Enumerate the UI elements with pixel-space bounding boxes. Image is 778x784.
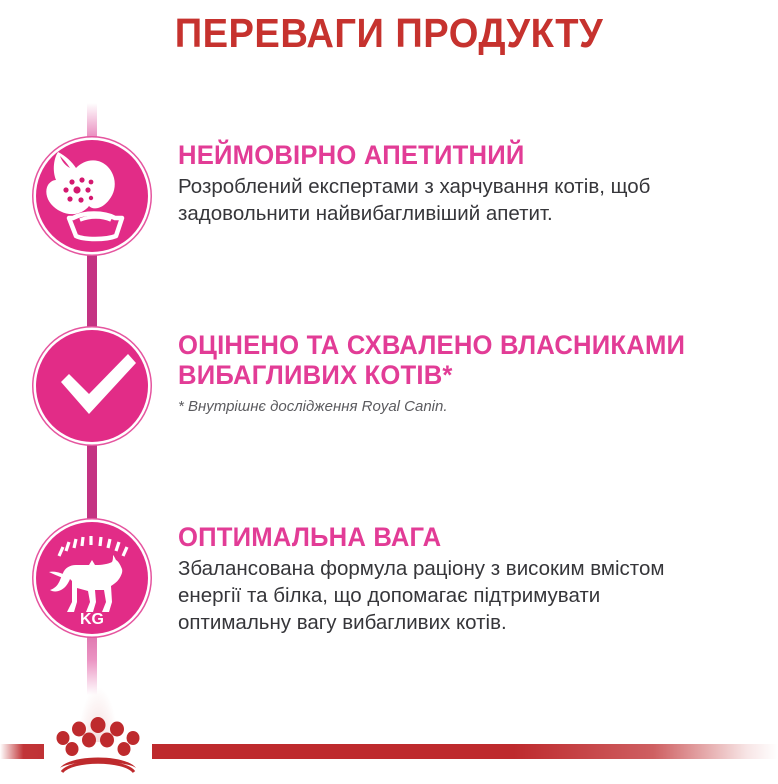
cat-head-with-food-bowl-icon — [36, 140, 148, 252]
feature-heading: ОЦІНЕНО ТА СХВАЛЕНО ВЛАСНИКАМИ ВИБАГЛИВИ… — [178, 330, 739, 390]
checkmark-icon — [36, 330, 148, 442]
feature-body: Розроблений експертами з харчування коті… — [178, 173, 768, 227]
checkmark-glyph — [36, 330, 148, 442]
feature-body: Збалансована формула раціону з високим в… — [178, 555, 768, 636]
feature-text-block: НЕЙМОВІРНО АПЕТИТНИЙ Розроблений експерт… — [178, 140, 768, 227]
cat-on-scale-kg-glyph: KG — [36, 522, 148, 634]
feature-heading: ОПТИМАЛЬНА ВАГА — [178, 522, 739, 552]
feature-text-block: ОЦІНЕНО ТА СХВАЛЕНО ВЛАСНИКАМИ ВИБАГЛИВИ… — [178, 330, 768, 417]
royal-canin-crown-logo — [48, 716, 148, 774]
feature-footnote: * Внутрішнє дослідження Royal Canin. — [178, 397, 768, 417]
cat-on-scale-kg-icon: KG — [36, 522, 148, 634]
page-title: ПЕРЕВАГИ ПРОДУКТУ — [27, 12, 751, 55]
feature-text-block: ОПТИМАЛЬНА ВАГА Збалансована формула рац… — [178, 522, 768, 636]
cat-head-with-food-bowl-glyph — [36, 140, 148, 252]
feature-heading: НЕЙМОВІРНО АПЕТИТНИЙ — [178, 140, 739, 170]
scale-unit-label: KG — [80, 611, 104, 628]
